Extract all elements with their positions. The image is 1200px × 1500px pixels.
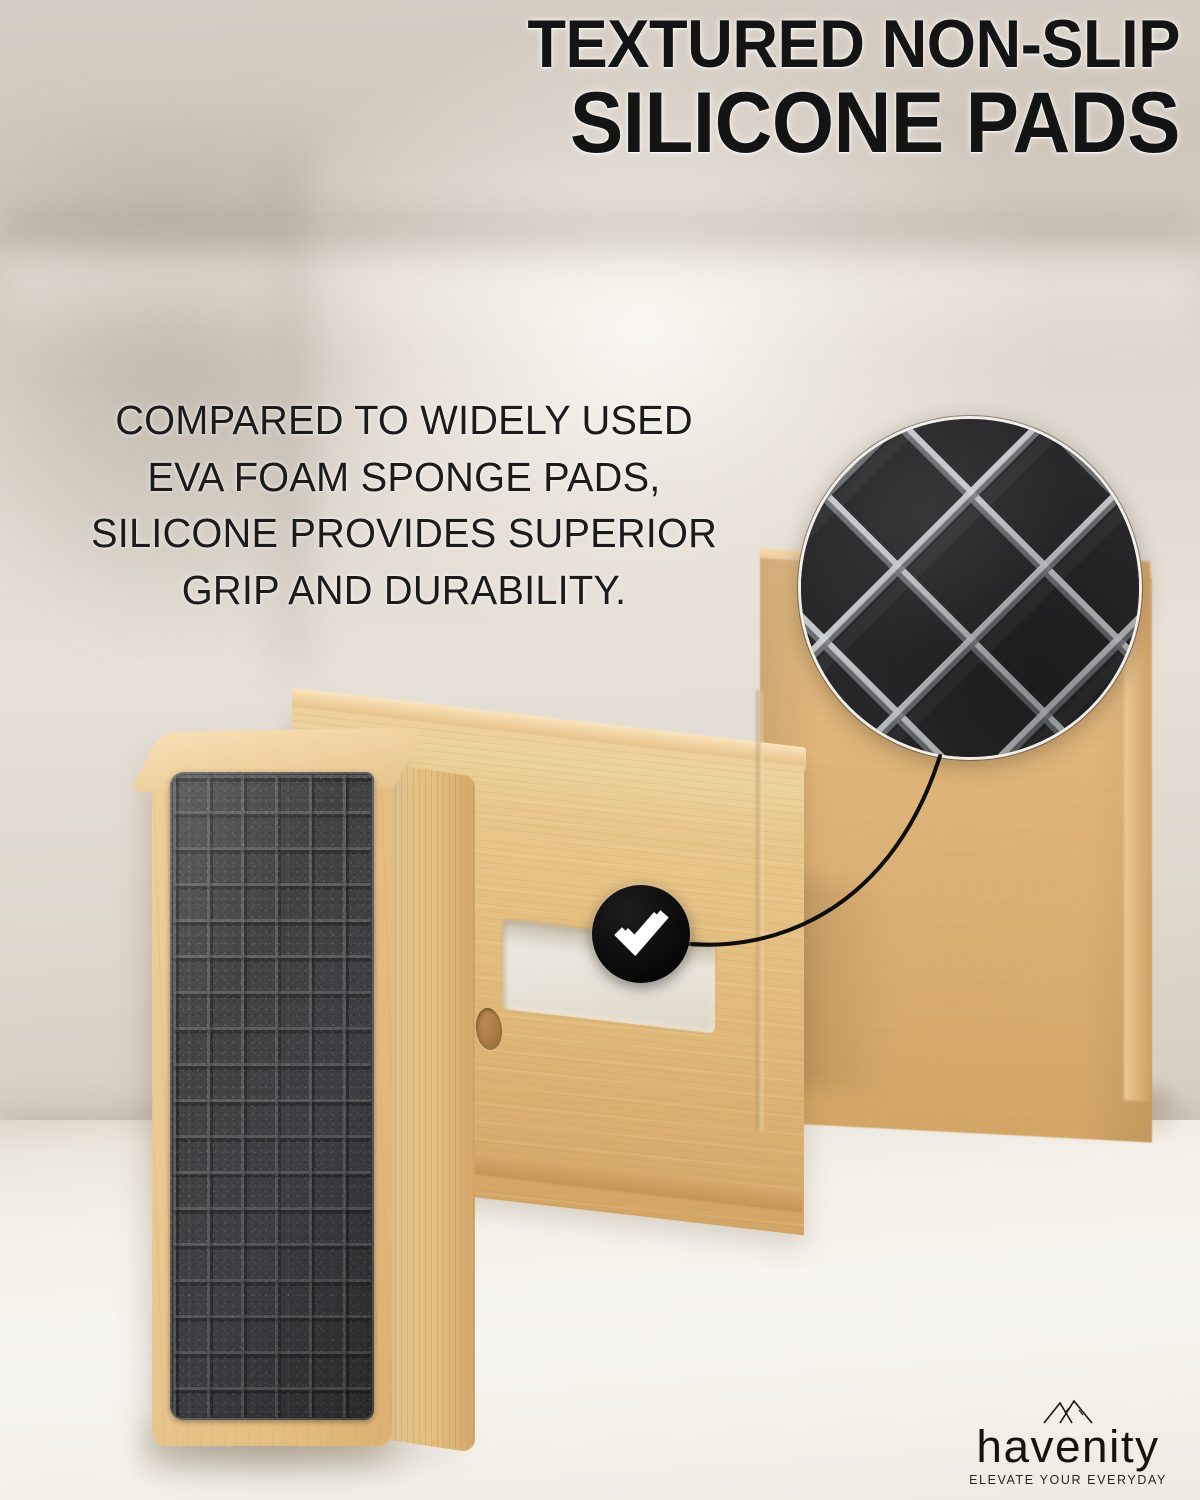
body-copy: COMPARED TO WIDELY USED EVA FOAM SPONGE … [14,392,794,618]
headline-line-2: SILICONE PADS [362,82,1180,165]
wood-grain [389,764,475,1453]
body-line-1: COMPARED TO WIDELY USED [26,392,783,449]
page-title: TEXTURED NON-SLIP SILICONE PADS [300,12,1180,165]
magnifier-vignette [801,419,1139,757]
headline-line-1: TEXTURED NON-SLIP [362,12,1180,78]
textured-silicone-pad [170,772,374,1420]
brand-logo: havenity ELEVATE YOUR EVERYDAY [952,1398,1184,1490]
body-line-4: GRIP AND DURABILITY. [26,562,783,619]
logo-tagline: ELEVATE YOUR EVERYDAY [952,1473,1184,1487]
texture-closeup-magnifier [798,416,1142,760]
background-shelf-highlight [0,250,1200,370]
product-marketing-image: TEXTURED NON-SLIP SILICONE PADS COMPARED… [0,0,1200,1500]
logo-wordmark: havenity [950,1426,1187,1468]
body-line-3: SILICONE PROVIDES SUPERIOR [26,505,783,562]
body-line-2: EVA FOAM SPONGE PADS, [26,449,783,506]
pad-sheen [170,772,374,1420]
check-badge [592,885,690,983]
check-icon [611,904,671,964]
post-side-face [389,764,475,1453]
panel-seam [756,690,763,1131]
